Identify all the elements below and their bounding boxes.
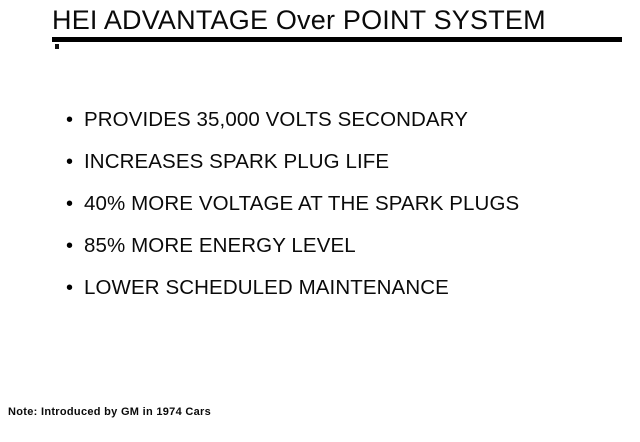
- list-item: • 85% MORE ENERGY LEVEL: [66, 234, 626, 276]
- bullet-dot-icon: •: [66, 150, 84, 174]
- bullet-dot-icon: •: [66, 276, 84, 300]
- slide-title-block: HEI ADVANTAGE Over POINT SYSTEM: [52, 4, 624, 42]
- list-item: • PROVIDES 35,000 VOLTS SECONDARY: [66, 108, 626, 150]
- list-item: • INCREASES SPARK PLUG LIFE: [66, 150, 626, 192]
- bullet-list: • PROVIDES 35,000 VOLTS SECONDARY • INCR…: [66, 108, 626, 318]
- scan-speck-artifact: [55, 44, 59, 49]
- title-underline-rule: [52, 37, 622, 42]
- list-item-label: INCREASES SPARK PLUG LIFE: [84, 150, 389, 174]
- list-item-label: LOWER SCHEDULED MAINTENANCE: [84, 276, 449, 300]
- bullet-dot-icon: •: [66, 234, 84, 258]
- list-item-label: 40% MORE VOLTAGE AT THE SPARK PLUGS: [84, 192, 519, 216]
- slide-canvas: HEI ADVANTAGE Over POINT SYSTEM • PROVID…: [0, 0, 640, 442]
- list-item: • LOWER SCHEDULED MAINTENANCE: [66, 276, 626, 318]
- list-item: • 40% MORE VOLTAGE AT THE SPARK PLUGS: [66, 192, 626, 234]
- list-item-label: PROVIDES 35,000 VOLTS SECONDARY: [84, 108, 468, 132]
- bullet-dot-icon: •: [66, 192, 84, 216]
- page-title: HEI ADVANTAGE Over POINT SYSTEM: [52, 4, 624, 36]
- bullet-dot-icon: •: [66, 108, 84, 132]
- list-item-label: 85% MORE ENERGY LEVEL: [84, 234, 356, 258]
- footnote-text: Note: Introduced by GM in 1974 Cars: [8, 405, 211, 419]
